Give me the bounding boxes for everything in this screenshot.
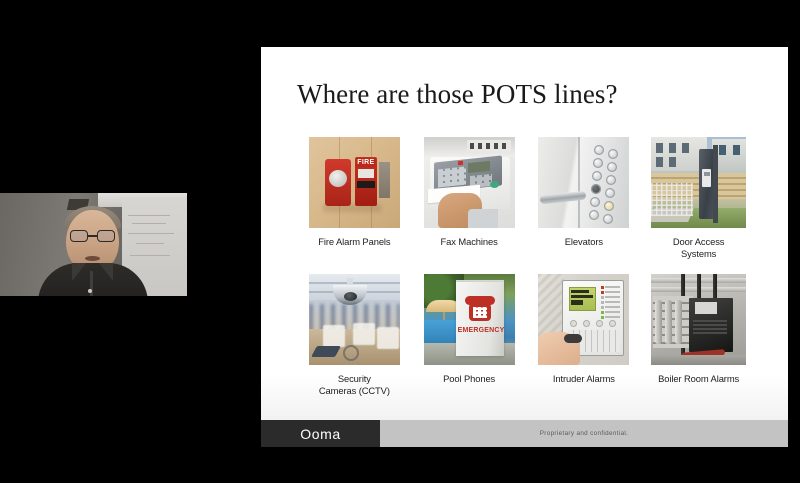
presentation-slide[interactable]: Where are those POTS lines? FIRE: [261, 47, 788, 447]
grid-cell-boiler-room-alarms[interactable]: Boiler Room Alarms: [641, 274, 756, 397]
grid-cell-elevators[interactable]: Elevators: [527, 137, 642, 260]
grid-cell-fax-machines[interactable]: Fax Machines: [412, 137, 527, 260]
footer-bar: Proprietary and confidential.: [380, 420, 788, 447]
intruder-alarm-panel-photo: [538, 274, 629, 365]
grid-cell-security-cameras[interactable]: SecurityCameras (CCTV): [297, 274, 412, 397]
grid-cell-label: SecurityCameras (CCTV): [319, 373, 390, 397]
grid-cell-label: Intruder Alarms: [553, 373, 615, 385]
video-person-button: [88, 289, 92, 293]
grid-cell-label: Pool Phones: [443, 373, 495, 385]
grid-row-1: FIRE Fire Alarm Panels: [297, 137, 756, 260]
grid-cell-label: Boiler Room Alarms: [658, 373, 739, 385]
fire-alarm-panel-photo: FIRE: [309, 137, 400, 228]
grid-row-2: SecurityCameras (CCTV): [297, 274, 756, 397]
pots-lines-grid: FIRE Fire Alarm Panels: [297, 137, 756, 397]
pool-emergency-phone-photo: EMERGENCY: [424, 274, 515, 365]
grid-cell-door-access-systems[interactable]: Door AccessSystems: [641, 137, 756, 260]
grid-cell-label: Fax Machines: [441, 236, 498, 248]
video-person-collar-left: [72, 263, 86, 281]
door-access-system-photo: [651, 137, 746, 228]
fax-machine-photo: [424, 137, 515, 228]
grid-cell-label: Door AccessSystems: [673, 236, 725, 260]
participant-video-tile[interactable]: [0, 193, 187, 296]
video-person-collar-right: [99, 263, 113, 281]
grid-cell-label: Elevators: [565, 236, 603, 248]
video-person-mouth: [85, 256, 100, 261]
confidentiality-note: Proprietary and confidential.: [540, 430, 629, 437]
boiler-room-photo: [651, 274, 746, 365]
glasses-icon: [70, 230, 115, 242]
slide-footer: Ooma Proprietary and confidential.: [261, 420, 788, 447]
screen-share-view: Where are those POTS lines? FIRE: [0, 0, 800, 483]
elevator-buttons-photo: [538, 137, 629, 228]
ooma-logo: Ooma: [261, 420, 380, 447]
slide-title: Where are those POTS lines?: [297, 79, 618, 110]
grid-cell-label: Fire Alarm Panels: [318, 236, 390, 248]
grid-cell-fire-alarm-panels[interactable]: FIRE Fire Alarm Panels: [297, 137, 412, 260]
security-camera-photo: [309, 274, 400, 365]
grid-cell-intruder-alarms[interactable]: Intruder Alarms: [527, 274, 642, 397]
grid-cell-pool-phones[interactable]: EMERGENCY Pool Phones: [412, 274, 527, 397]
